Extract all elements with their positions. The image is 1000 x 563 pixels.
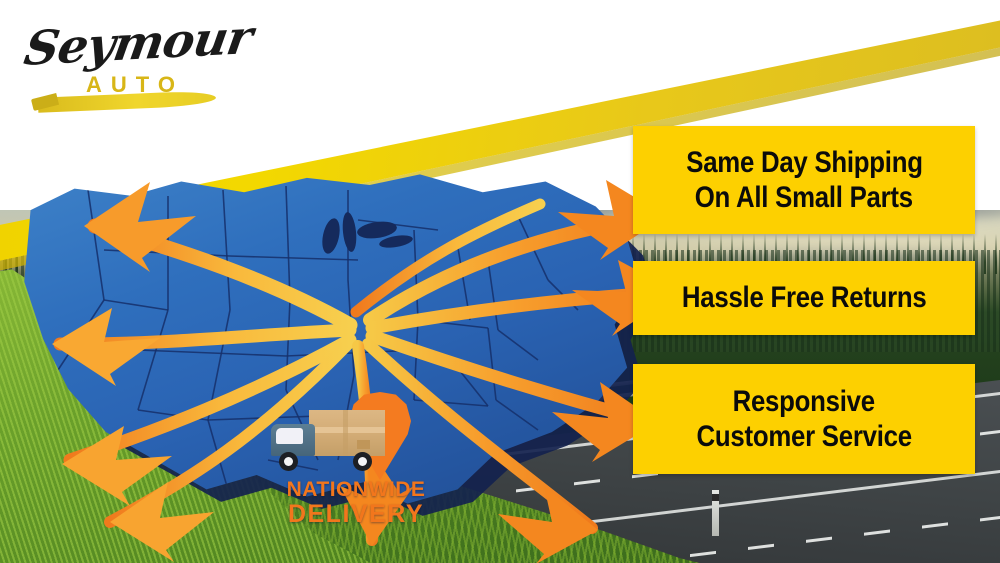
brand-name: Seymour: [21, 10, 256, 77]
road-marker-post: [712, 490, 719, 536]
delivery-truck-icon: [265, 410, 385, 472]
promo-box-responsive-customer-service[interactable]: Responsive Customer Service: [633, 364, 975, 474]
delivery-caption-line2: DELIVERY: [271, 500, 441, 529]
promo-box-same-day-shipping[interactable]: Same Day Shipping On All Small Parts: [633, 126, 975, 234]
promo-box-hassle-free-returns[interactable]: Hassle Free Returns: [633, 261, 975, 335]
promo-1-line2: On All Small Parts: [695, 180, 913, 215]
promo-banner: Seymour AUTO: [0, 0, 1000, 563]
promo-3-line1: Responsive: [733, 384, 875, 419]
promo-1-line1: Same Day Shipping: [686, 145, 922, 180]
delivery-caption-line1: NATIONWIDE: [271, 478, 441, 502]
brand-subtitle: AUTO: [86, 72, 184, 98]
nationwide-map-graphic: NATIONWIDE DELIVERY: [10, 160, 670, 540]
promo-2-line1: Hassle Free Returns: [682, 280, 927, 315]
nationwide-delivery-badge: NATIONWIDE DELIVERY: [265, 396, 440, 531]
brand-logo[interactable]: Seymour AUTO: [18, 16, 248, 108]
promo-3-line2: Customer Service: [696, 419, 911, 454]
